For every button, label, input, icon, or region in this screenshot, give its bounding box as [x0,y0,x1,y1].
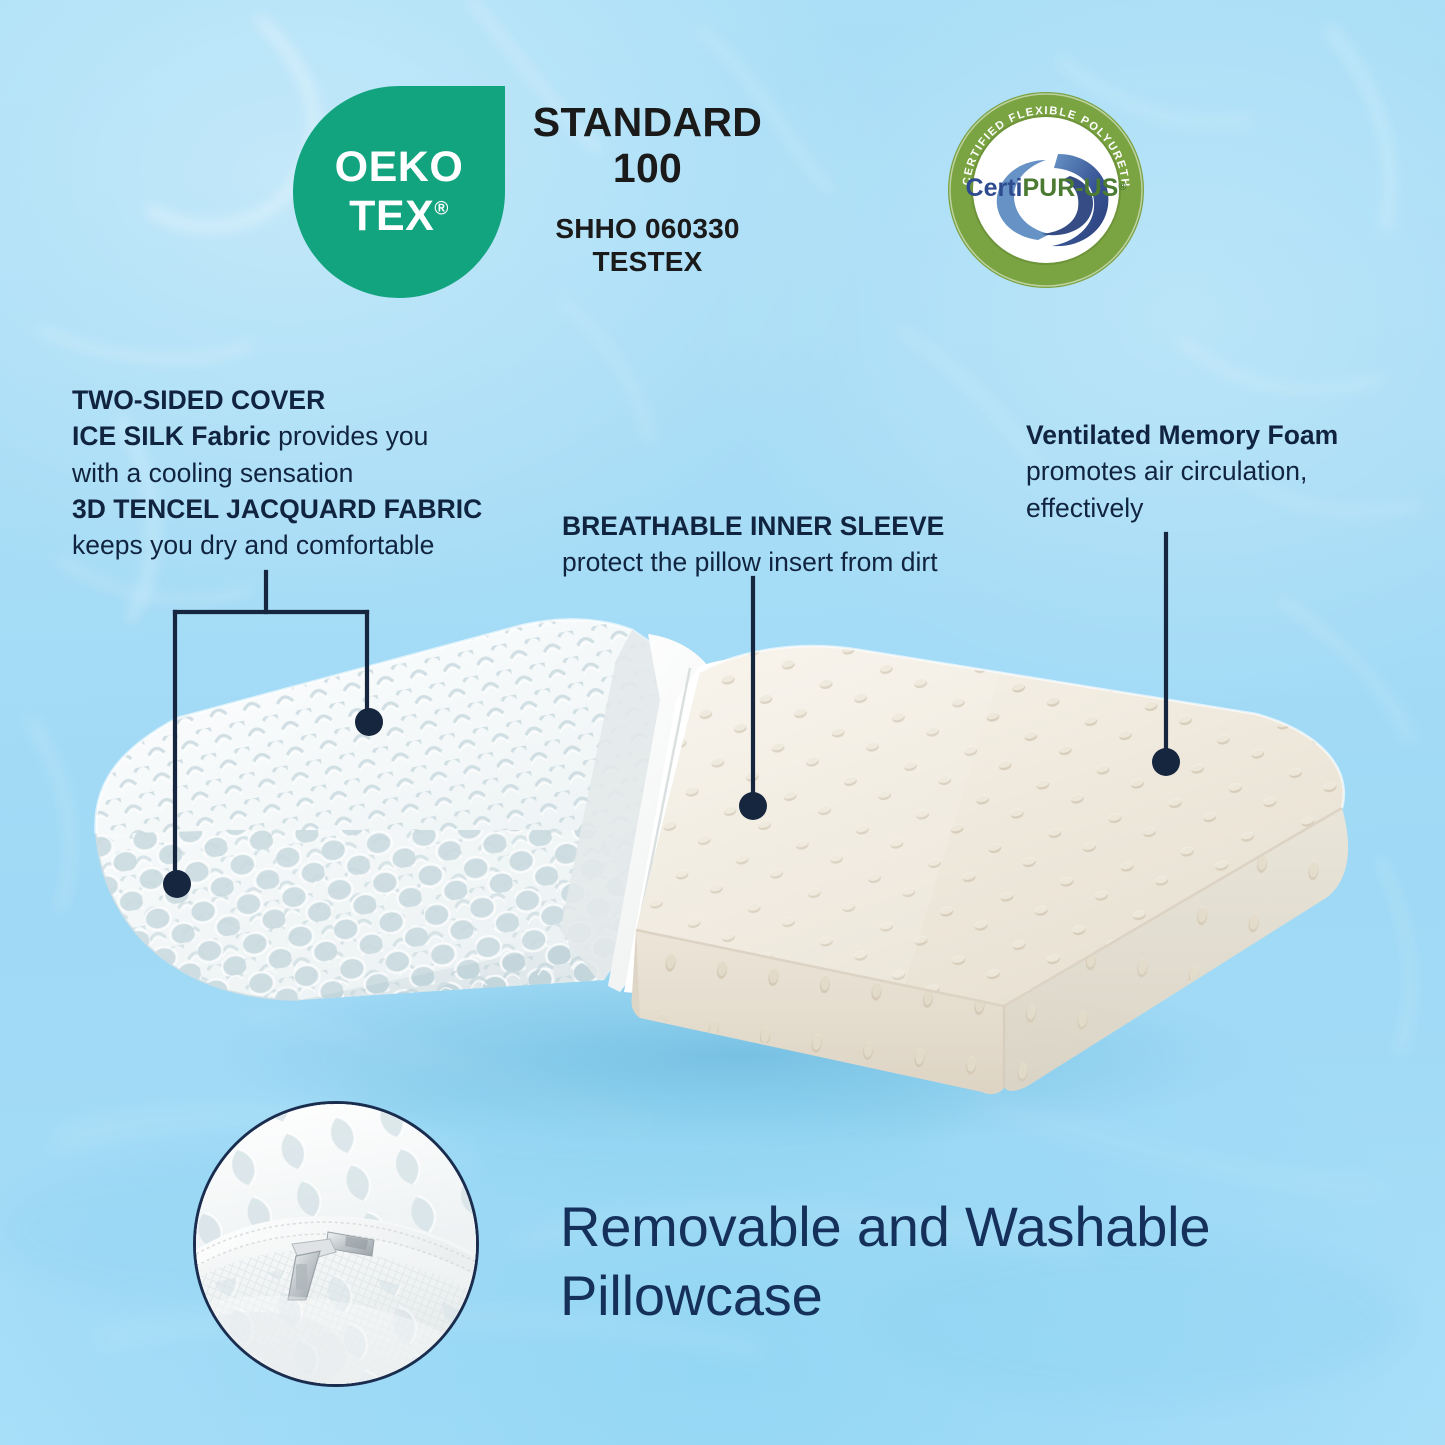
annotation-right-line1: Ventilated Memory Foam [1026,417,1396,453]
annotation-left-line5: keeps you dry and comfortable [72,527,542,563]
ventilated-memory-foam [620,630,1380,1110]
annotation-mid-line2: protect the pillow insert from dirt [562,544,1032,580]
headline-line2: Pillowcase [560,1261,1380,1330]
bottom-headline: Removable and Washable Pillowcase [560,1192,1380,1331]
annotation-two-sided-cover: TWO-SIDED COVER ICE SILK Fabric provides… [72,382,542,563]
annotation-left-line2: ICE SILK Fabric provides you [72,418,542,454]
annotation-right-line3: effectively [1026,490,1396,526]
annotation-right-line2: promotes air circulation, [1026,453,1396,489]
annotation-left-line4: 3D TENCEL JACQUARD FABRIC [72,491,542,527]
zipper-closeup-inset [193,1101,479,1387]
annotation-breathable-inner-sleeve: BREATHABLE INNER SLEEVE protect the pill… [562,508,1032,581]
headline-line1: Removable and Washable [560,1192,1380,1261]
annotation-left-line1: TWO-SIDED COVER [72,382,542,418]
annotation-ventilated-memory-foam: Ventilated Memory Foam promotes air circ… [1026,417,1396,526]
annotation-left-line2-rest: provides you [271,421,429,451]
product-infographic: OEKO TEX® STANDARD 100 SHHO 060330 TESTE… [0,0,1445,1445]
annotation-mid-line1: BREATHABLE INNER SLEEVE [562,508,1032,544]
annotation-left-line2-bold: ICE SILK Fabric [72,421,271,451]
annotation-left-line3: with a cooling sensation [72,455,542,491]
